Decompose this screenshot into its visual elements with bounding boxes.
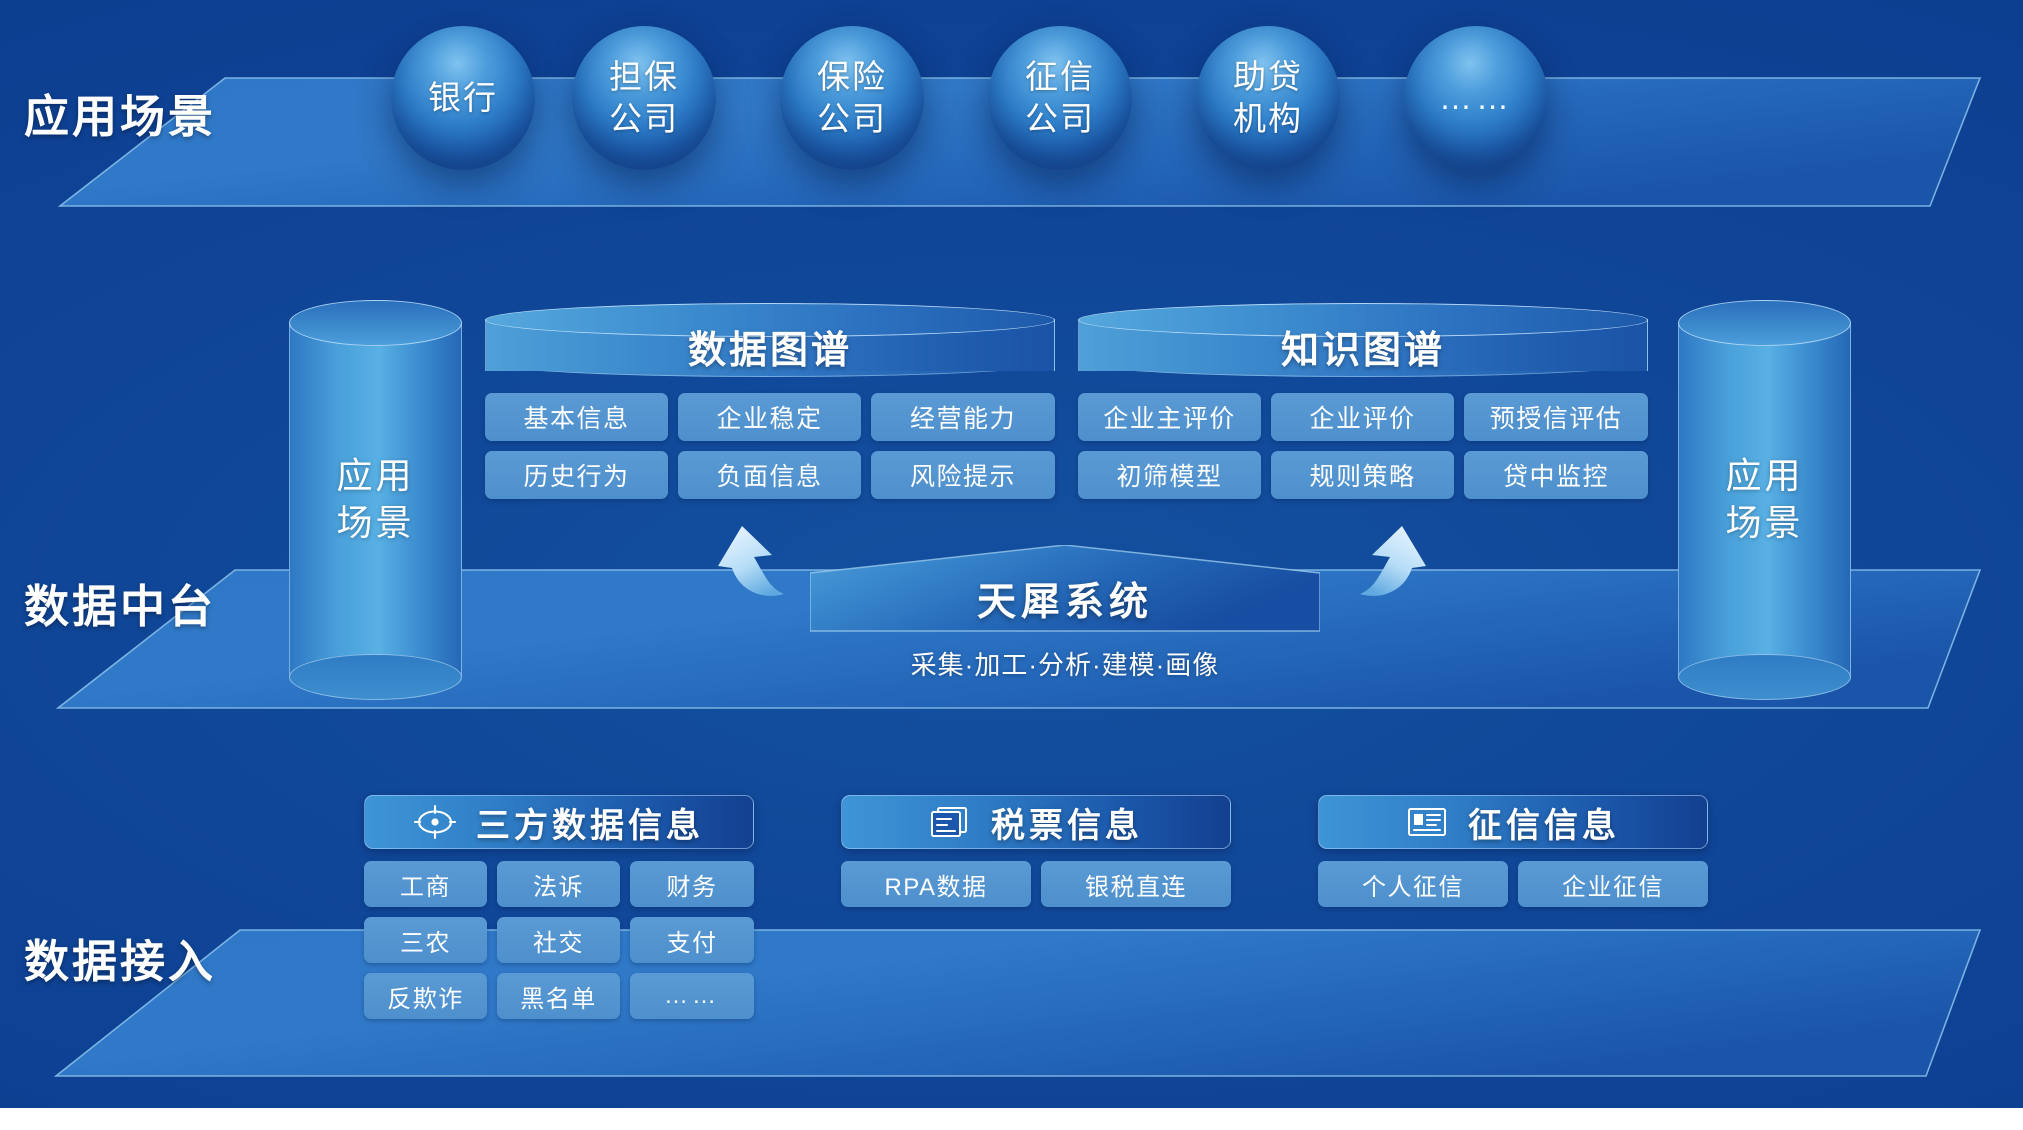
scene-sphere-label: …… [1439, 79, 1513, 117]
tile[interactable]: 财务 [630, 861, 754, 907]
cylinder-bottom [289, 654, 462, 700]
source-tiles-invoice: RPA数据 银税直连 [841, 861, 1231, 907]
data-graph-title: 数据图谱 [485, 320, 1055, 372]
knowledge-graph-tiles: 企业主评价 企业评价 预授信评估 初筛模型 规则策略 贷中监控 [1078, 393, 1648, 499]
scene-sphere-2[interactable]: 保险 公司 [780, 26, 924, 170]
source-header-third-party[interactable]: 三方数据信息 [364, 795, 754, 849]
cylinder-top [289, 300, 462, 346]
source-group-credit: 征信信息 个人征信 企业征信 [1318, 795, 1708, 907]
tile[interactable]: 黑名单 [497, 973, 620, 1019]
invoice-icon [929, 804, 971, 840]
cylinder-label: 应用 场景 [1678, 453, 1851, 547]
scene-sphere-label: 征信 公司 [1025, 56, 1095, 140]
row-label-application-scene: 应用场景 [24, 80, 216, 145]
id-card-icon [1406, 804, 1448, 840]
source-header-credit[interactable]: 征信信息 [1318, 795, 1708, 849]
knowledge-graph-header[interactable]: 知识图谱 [1078, 303, 1648, 377]
tile[interactable]: 经营能力 [871, 393, 1055, 441]
left-up-arrow-icon [708, 522, 804, 618]
source-tiles-credit: 个人征信 企业征信 [1318, 861, 1708, 907]
cylinder-top [1678, 300, 1851, 346]
tile[interactable]: RPA数据 [841, 861, 1031, 907]
source-tiles-third-party: 工商 法诉 财务 三农 社交 支付 反欺诈 黑名单 …… [364, 861, 754, 1019]
tile[interactable]: 个人征信 [1318, 861, 1508, 907]
scene-sphere-3[interactable]: 征信 公司 [988, 26, 1132, 170]
source-group-invoice: 税票信息 RPA数据 银税直连 [841, 795, 1231, 907]
tile[interactable]: 银税直连 [1041, 861, 1231, 907]
source-header-label: 税票信息 [991, 798, 1143, 847]
data-graph-tiles: 基本信息 企业稳定 经营能力 历史行为 负面信息 风险提示 [485, 393, 1055, 499]
tile[interactable]: 预授信评估 [1464, 393, 1648, 441]
tile[interactable]: 基本信息 [485, 393, 668, 441]
tile[interactable]: …… [630, 973, 754, 1019]
tile[interactable]: 三农 [364, 917, 487, 963]
row-label-data-platform: 数据中台 [24, 570, 216, 635]
scene-sphere-label: 助贷 机构 [1233, 56, 1303, 140]
scene-sphere-5[interactable]: …… [1404, 26, 1548, 170]
target-icon [414, 804, 456, 840]
scene-sphere-1[interactable]: 担保 公司 [572, 26, 716, 170]
tile[interactable]: 规则策略 [1271, 451, 1454, 499]
tile[interactable]: 支付 [630, 917, 754, 963]
knowledge-graph-title: 知识图谱 [1078, 320, 1648, 372]
tile[interactable]: 企业征信 [1518, 861, 1708, 907]
left-application-cylinder[interactable]: 应用 场景 [289, 300, 462, 700]
data-ingestion-plane [50, 930, 1980, 1078]
tile[interactable]: 企业主评价 [1078, 393, 1261, 441]
tile[interactable]: 风险提示 [871, 451, 1055, 499]
core-system-banner[interactable]: 天犀系统 [810, 545, 1320, 633]
tile[interactable]: 社交 [497, 917, 620, 963]
tile[interactable]: 历史行为 [485, 451, 668, 499]
tile[interactable]: 企业稳定 [678, 393, 861, 441]
core-system-subtitle: 采集·加工·分析·建模·画像 [810, 645, 1320, 682]
source-header-label: 征信信息 [1468, 798, 1620, 847]
tile[interactable]: 反欺诈 [364, 973, 487, 1019]
tile[interactable]: 法诉 [497, 861, 620, 907]
tile[interactable]: 企业评价 [1271, 393, 1454, 441]
row-label-data-ingestion: 数据接入 [24, 925, 216, 990]
right-up-arrow-icon [1340, 522, 1436, 618]
tile[interactable]: 初筛模型 [1078, 451, 1261, 499]
scene-sphere-label: 银行 [428, 77, 498, 119]
scene-sphere-4[interactable]: 助贷 机构 [1196, 26, 1340, 170]
source-group-third-party: 三方数据信息 工商 法诉 财务 三农 社交 支付 反欺诈 黑名单 …… [364, 795, 754, 1019]
scene-sphere-label: 保险 公司 [817, 56, 887, 140]
diagram-background: 银行 担保 公司 保险 公司 征信 公司 助贷 机构 …… 应用场景 [0, 0, 2023, 1108]
source-header-label: 三方数据信息 [476, 798, 704, 847]
tile[interactable]: 贷中监控 [1464, 451, 1648, 499]
data-graph-header[interactable]: 数据图谱 [485, 303, 1055, 377]
scene-sphere-0[interactable]: 银行 [391, 26, 535, 170]
cylinder-bottom [1678, 654, 1851, 700]
scene-sphere-label: 担保 公司 [609, 56, 679, 140]
cylinder-label: 应用 场景 [289, 453, 462, 547]
source-header-invoice[interactable]: 税票信息 [841, 795, 1231, 849]
core-system-title: 天犀系统 [810, 571, 1320, 627]
tile[interactable]: 工商 [364, 861, 487, 907]
right-application-cylinder[interactable]: 应用 场景 [1678, 300, 1851, 700]
tile[interactable]: 负面信息 [678, 451, 861, 499]
diagram-canvas: 银行 担保 公司 保险 公司 征信 公司 助贷 机构 …… 应用场景 [0, 0, 2023, 1130]
